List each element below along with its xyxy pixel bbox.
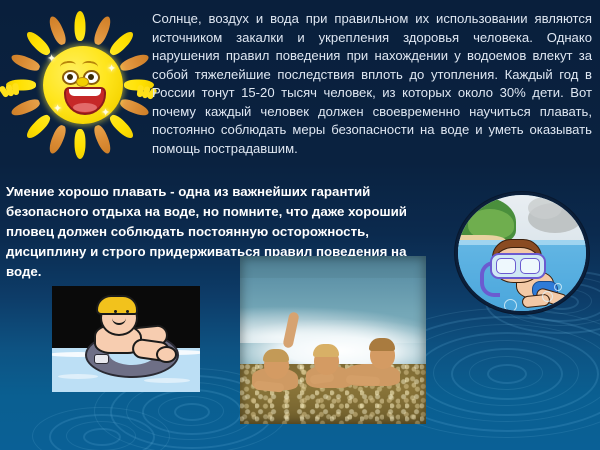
intro-paragraph: Солнце, воздух и вода при правильном их … [152, 10, 592, 158]
sun-mouth [64, 87, 106, 115]
boy-foot [156, 346, 177, 363]
water-ripple [469, 356, 543, 390]
boy-eye-right [126, 310, 129, 313]
sparkle-icon: ✦ [47, 54, 56, 65]
tube-valve [94, 354, 109, 364]
water-ripple [142, 389, 242, 435]
boy-on-tube-illustration [52, 286, 200, 392]
sun-ray-shape [47, 15, 69, 47]
sparkle-icon: ✦ [53, 104, 62, 115]
water-ripple [415, 332, 599, 416]
bubble-icon [504, 299, 517, 312]
sun-ray-shape [75, 129, 86, 159]
sun-illustration: ✦ ✦ ✦ ✦ [4, 6, 156, 164]
water-ripple [158, 396, 224, 426]
water-ripple [433, 340, 579, 406]
sun-ray-shape [75, 11, 86, 41]
sun-nose [76, 77, 89, 87]
water-ripple [451, 348, 563, 400]
sun-ray-shape [119, 97, 151, 119]
water-ripple [49, 414, 155, 450]
bubble-icon [554, 283, 562, 291]
boy-hair [96, 295, 138, 315]
diving-mask-icon [490, 253, 546, 279]
water-ripple [487, 364, 527, 384]
sun-face: ✦ ✦ ✦ ✦ [43, 46, 123, 124]
sparkle-icon: ✦ [107, 64, 116, 75]
water-ripple [397, 324, 600, 422]
children-beach-photo [240, 256, 426, 424]
sun-ray-shape [92, 124, 114, 156]
sun-ray-shape [119, 52, 151, 74]
water-ripple [83, 428, 121, 446]
cloud-icon [528, 197, 562, 219]
water-ripple [32, 407, 170, 450]
snorkeler-circle-illustration [455, 192, 589, 314]
bubble-icon [542, 291, 553, 302]
water-ripple [174, 403, 210, 421]
boy-eye-left [114, 310, 117, 313]
presentation-slide: ✦ ✦ ✦ ✦ Солнце, воздух и вода при правил… [0, 0, 600, 450]
water-ripple [66, 421, 136, 450]
sun-ray-shape [10, 52, 42, 74]
sun-ray-hand-left [0, 74, 24, 98]
sparkle-icon: ✦ [101, 108, 110, 119]
sun-ray-shape [47, 124, 69, 156]
sun-ray-shape [10, 97, 42, 119]
sun-ray-shape [92, 15, 114, 47]
